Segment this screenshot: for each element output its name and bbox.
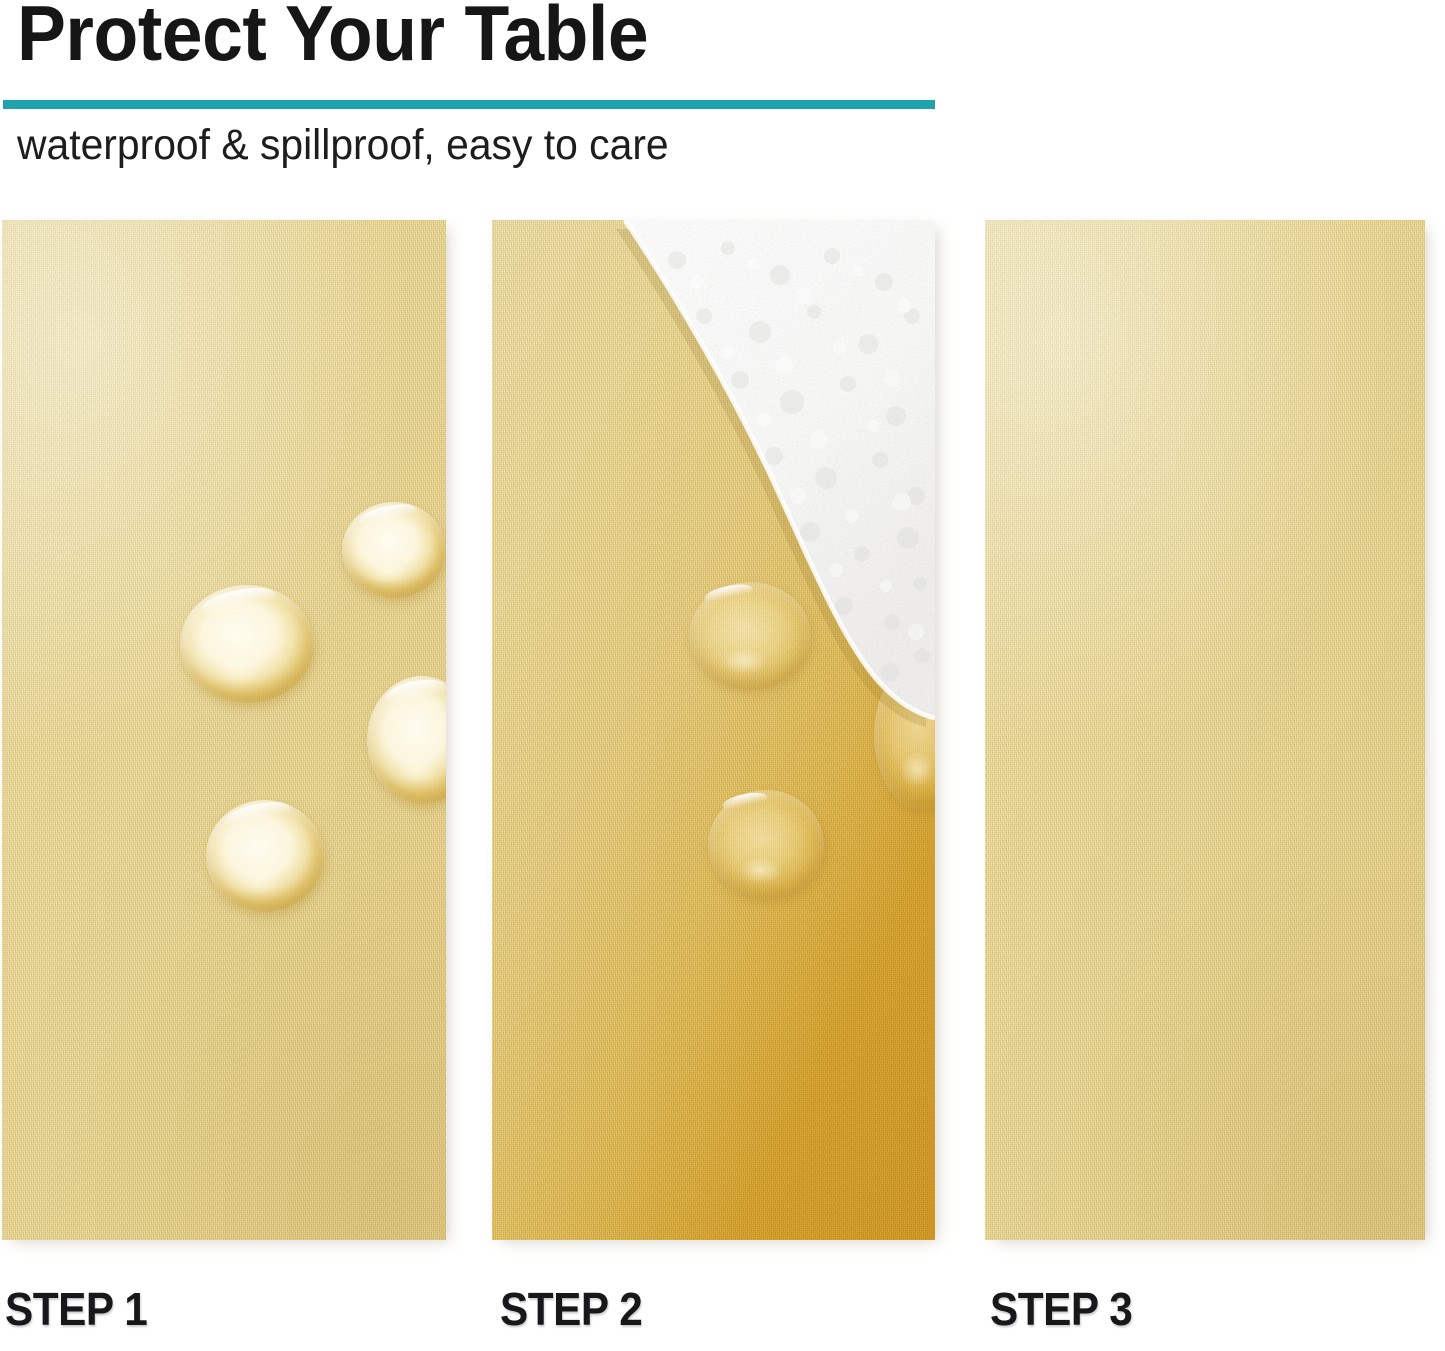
- page-subtitle: waterproof & spillproof, easy to care: [17, 122, 669, 169]
- step-1-image: [2, 220, 446, 1240]
- step-captions: STEP 1 STEP 2 STEP 3: [0, 1282, 1445, 1344]
- droplet-glow: [895, 747, 935, 792]
- page-title: Protect Your Table: [17, 0, 648, 75]
- water-droplet: [342, 502, 446, 598]
- droplet-glow: [391, 750, 442, 788]
- water-droplet: [708, 790, 824, 900]
- step-2-image: [492, 220, 935, 1240]
- water-droplet: [180, 585, 314, 703]
- water-droplet: [689, 582, 811, 690]
- step-2-label: STEP 2: [500, 1282, 642, 1336]
- fabric-surface: [985, 220, 1425, 1240]
- step-1-label: STEP 1: [5, 1282, 147, 1336]
- step-3-label: STEP 3: [990, 1282, 1132, 1336]
- droplet-glow: [716, 645, 772, 677]
- step-3-image: [985, 220, 1425, 1240]
- fabric-surface: [492, 220, 935, 1240]
- water-droplet: [206, 800, 324, 912]
- droplet-glow: [232, 865, 286, 899]
- header-divider: [3, 100, 935, 109]
- droplet-glow: [365, 558, 413, 587]
- droplet-glow: [209, 653, 271, 688]
- droplet-glow: [734, 854, 787, 887]
- step-panels: [0, 220, 1445, 1240]
